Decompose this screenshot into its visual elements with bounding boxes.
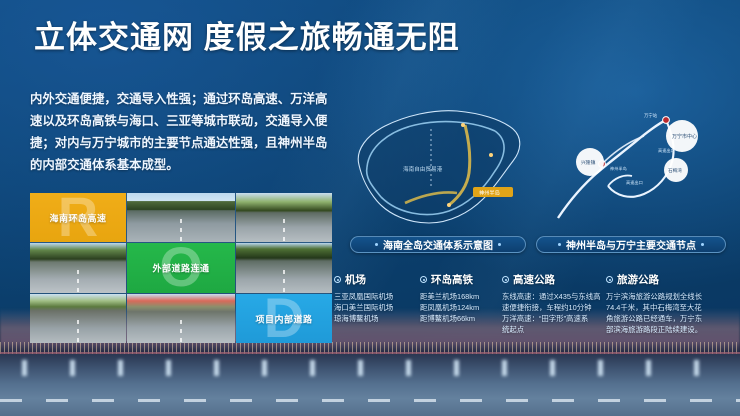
caption-dot-left-icon	[375, 243, 378, 246]
poi-label-xinglong: 兴隆镇	[581, 159, 596, 166]
caption-dot-right-icon	[498, 243, 501, 246]
city-marker-wanning	[489, 153, 493, 157]
coastal-road	[608, 120, 674, 197]
shenzhou-map-caption: 神州半岛与万宁主要交通节点	[536, 236, 726, 253]
info-line: 统起点	[502, 324, 602, 335]
info-line: 东线高速：通过X435与东线高	[502, 291, 602, 302]
info-heading-rail-wrap: 环岛高铁	[420, 272, 498, 287]
hainan-map-caption: 海南全岛交通体系示意图	[350, 236, 526, 253]
info-line: 琼海博鳌机场	[334, 313, 416, 324]
collage-photo-4	[236, 243, 332, 293]
info-heading-rail: 环岛高铁	[431, 272, 473, 287]
road-stripe	[180, 219, 182, 242]
collage-photo-5	[30, 294, 126, 343]
info-column-expressway: 高速公路 东线高速：通过X435与东线高 速便捷衔接，车程约10分钟 万洋高速：…	[502, 272, 602, 342]
info-line: 部滨海旅游路段正陆续建设。	[606, 324, 724, 335]
road-stripe	[283, 219, 285, 242]
road-stripe	[283, 270, 285, 293]
collage-tile-internal-roads[interactable]: D 项目内部道路	[236, 294, 332, 343]
info-line: 角旅游公路已经通车，万宁东	[606, 313, 724, 324]
info-line: 距凤凰机场124km	[420, 302, 498, 313]
collage-photo-3	[30, 243, 126, 293]
bullet-dot-icon	[420, 276, 427, 283]
road-stripe	[77, 270, 79, 293]
node-marker-wanning-station	[663, 117, 670, 124]
info-line: 速便捷衔接，车程约10分钟	[502, 302, 602, 313]
shenzhou-map-caption-text: 神州半岛与万宁主要交通节点	[566, 237, 696, 252]
info-line: 74.4千米，其中石梅湾至大花	[606, 302, 724, 313]
info-column-highspeed-rail: 环岛高铁 距美兰机场168km 距凤凰机场124km 距博鳌机场66km	[420, 272, 498, 342]
info-line: 距美兰机场168km	[420, 291, 498, 302]
info-line: 万宁滨海旅游公路规划全线长	[606, 291, 724, 302]
hainan-island-map[interactable]: 海南自由贸易港 神州半岛	[345, 95, 531, 235]
map-text-exit-1: 高速出口	[658, 147, 675, 154]
hainan-map-caption-text: 海南全岛交通体系示意图	[383, 237, 493, 252]
caption-dot-right-icon	[701, 243, 704, 246]
caption-dot-left-icon	[558, 243, 561, 246]
transport-info-row: 机场 三亚凤凰国际机场 海口美兰国际机场 琼海博鳌机场 环岛高铁 距美兰机场16…	[334, 272, 732, 342]
info-body-tourism: 万宁滨海旅游公路规划全线长 74.4千米，其中石梅湾至大花 角旅游公路已经通车，…	[606, 291, 724, 335]
info-heading-airport: 机场	[345, 272, 366, 287]
page-title: 立体交通网 度假之旅畅通无阻	[34, 20, 460, 56]
map-text-exit-2: 高速出口	[626, 179, 643, 186]
collage-photo-2	[236, 193, 332, 242]
region-label: 海南自由贸易港	[403, 165, 443, 173]
collage-photo-6	[127, 294, 235, 343]
shenzhou-peninsula-map-svg: 万宁市中心 石梅湾 兴隆镇 万宁站 高速出口 高速出口 神州半岛	[540, 100, 720, 235]
bullet-dot-icon	[502, 276, 509, 283]
info-body-rail: 距美兰机场168km 距凤凰机场124km 距博鳌机场66km	[420, 291, 498, 324]
poi-label-shimeiwan: 石梅湾	[668, 167, 682, 174]
info-line: 海口美兰国际机场	[334, 302, 416, 313]
collage-tile-highway[interactable]: R 海南环岛高速	[30, 193, 126, 242]
intro-paragraph: 内外交通便捷，交通导入性强；通过环岛高速、万洋高速以及环岛高铁与海口、三亚等城市…	[30, 88, 330, 176]
collage-photo-1	[127, 193, 235, 242]
road-stripe	[180, 320, 182, 343]
road-photo-collage: R 海南环岛高速 O 外部道路连通 D 项目内部道路	[30, 193, 330, 341]
collage-label-highway: 海南环岛高速	[49, 211, 106, 224]
collage-label-external-roads: 外部道路连通	[152, 262, 209, 275]
info-body-expressway: 东线高速：通过X435与东线高 速便捷衔接，车程约10分钟 万洋高速：“田字形”…	[502, 291, 602, 335]
info-line: 三亚凤凰国际机场	[334, 291, 416, 302]
info-heading-airport-wrap: 机场	[334, 272, 416, 287]
poi-label-city-center: 万宁市中心	[672, 133, 697, 140]
map-text-peninsula: 神州半岛	[610, 165, 627, 172]
map-text-wanning-station: 万宁站	[644, 112, 658, 119]
shenzhou-peninsula-map[interactable]: 万宁市中心 石梅湾 兴隆镇 万宁站 高速出口 高速出口 神州半岛	[540, 100, 720, 235]
hainan-island-map-svg: 海南自由贸易港 神州半岛	[345, 95, 531, 235]
info-line: 距博鳌机场66km	[420, 313, 498, 324]
info-line: 万洋高速：“田字形”高速系	[502, 313, 602, 324]
info-heading-tourism: 旅游公路	[617, 272, 659, 287]
bullet-dot-icon	[334, 276, 341, 283]
collage-tile-external-roads[interactable]: O 外部道路连通	[127, 243, 235, 293]
info-column-airport: 机场 三亚凤凰国际机场 海口美兰国际机场 琼海博鳌机场	[334, 272, 416, 342]
info-body-airport: 三亚凤凰国际机场 海口美兰国际机场 琼海博鳌机场	[334, 291, 416, 324]
slide-canvas: 立体交通网 度假之旅畅通无阻 内外交通便捷，交通导入性强；通过环岛高速、万洋高速…	[0, 0, 740, 416]
info-heading-expressway: 高速公路	[513, 272, 555, 287]
map-legend-text: 神州半岛	[479, 189, 500, 197]
road-stripe	[77, 320, 79, 343]
city-marker-haikou	[461, 123, 465, 127]
info-heading-expressway-wrap: 高速公路	[502, 272, 602, 287]
bullet-dot-icon	[606, 276, 613, 283]
info-heading-tourism-wrap: 旅游公路	[606, 272, 724, 287]
street-lamps	[0, 360, 740, 376]
info-column-tourism-road: 旅游公路 万宁滨海旅游公路规划全线长 74.4千米，其中石梅湾至大花 角旅游公路…	[606, 272, 724, 342]
lane-marking	[0, 399, 740, 402]
city-marker-sanya	[447, 203, 451, 207]
collage-label-internal-roads: 项目内部道路	[255, 312, 312, 325]
